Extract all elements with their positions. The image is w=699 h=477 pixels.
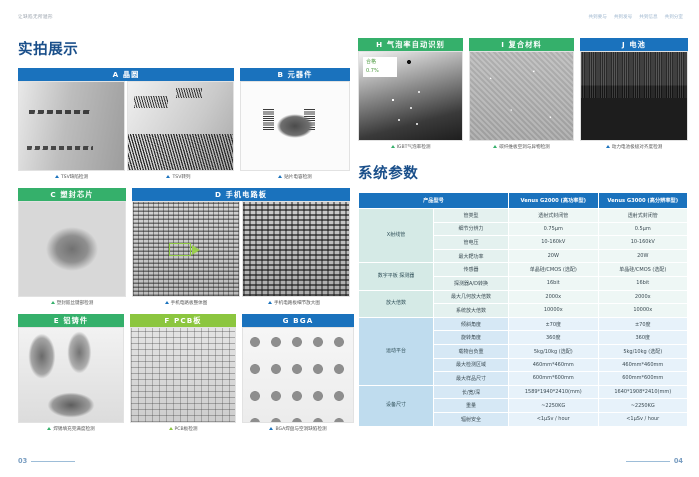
selection-box xyxy=(169,243,191,256)
sample-block-D: D 手机电路板手机电路板整体图手机电路板细节放大图 xyxy=(132,188,350,308)
triangle-bullet-icon xyxy=(165,301,169,304)
table-row: 数字平板 探测器传感器单晶硅/CMOS (选配)单晶硅/CMOS (选配) xyxy=(359,263,688,277)
sample-row: A 晶圆TSV缺陷检测TSV转列B 元器件贴片电容检测 xyxy=(18,68,350,182)
page-title-right: 系统参数 xyxy=(358,162,688,183)
page-rule-right xyxy=(626,461,670,462)
param-label-cell: 最大靶功率 xyxy=(434,249,509,263)
sample-captions-A: TSV缺陷检测TSV转列 xyxy=(18,171,234,182)
caption-B-0: 贴片电容检测 xyxy=(240,171,350,182)
param-label-cell: 载物台负重 xyxy=(434,344,509,358)
caption-text: TSV缺陷检测 xyxy=(61,174,88,180)
triangle-bullet-icon xyxy=(278,175,282,178)
param-value-g2000: ±70度 xyxy=(509,317,599,331)
top-nav-item-0[interactable]: 共到要与 xyxy=(588,14,606,20)
overlay-label: 合格 xyxy=(366,58,376,67)
caption-A-1: TSV转列 xyxy=(125,171,232,182)
sample-block-E: E 铝铸件焊锡填充完满度检测 xyxy=(18,314,124,434)
param-value-g2000: 360度 xyxy=(509,331,599,345)
page-number-left-value: 03 xyxy=(18,457,27,465)
xray-image-B-0 xyxy=(240,81,350,171)
sample-header-E: E 铝铸件 xyxy=(18,314,124,327)
sample-header-D: D 手机电路板 xyxy=(132,188,350,201)
caption-text: IGBT气泡率检测 xyxy=(397,144,431,150)
caption-text: 手机电路板整体图 xyxy=(171,300,208,306)
param-value-g2000: 1589*1940*2410(mm) xyxy=(509,385,599,399)
param-value-g3000: 1640*1908*2410(mm) xyxy=(598,385,688,399)
caption-H-0: IGBT气泡率检测 xyxy=(358,141,463,152)
xray-image-A-0 xyxy=(18,81,125,171)
param-value-g2000: 5kg/10kg (选配) xyxy=(509,344,599,358)
table-body: X射线管管类型透射式封闭管透射式封闭管细节分辨力0.75μm0.5μm管电压10… xyxy=(359,209,688,427)
triangle-bullet-icon xyxy=(268,301,272,304)
caption-D-1: 手机电路板细节放大图 xyxy=(240,297,348,308)
param-label-cell: 重量 xyxy=(434,399,509,413)
top-nav-item-1[interactable]: 共到发号 xyxy=(614,14,632,20)
xray-image-F-0 xyxy=(130,327,236,423)
right-column: H 气泡率自动识别合格0.7%IGBT气泡率检测I 复合材料碳纤维板空洞与异物检… xyxy=(358,38,688,427)
param-group-cell: 放大倍数 xyxy=(359,290,434,317)
param-value-g2000: 0.75μm xyxy=(509,222,599,236)
param-value-g2000: ~2250KG xyxy=(509,399,599,413)
param-value-g2000: 20W xyxy=(509,249,599,263)
param-value-g2000: 2000x xyxy=(509,290,599,304)
param-label-cell: 细节分辨力 xyxy=(434,222,509,236)
caption-text: 碳纤维板空洞与异物检测 xyxy=(499,144,550,150)
sample-images-A xyxy=(18,81,234,171)
xray-image-J-0 xyxy=(580,51,688,141)
sample-block-H: H 气泡率自动识别合格0.7%IGBT气泡率检测 xyxy=(358,38,463,152)
caption-A-0: TSV缺陷检测 xyxy=(18,171,125,182)
sample-captions-G: BGA焊盘与空洞缺陷检测 xyxy=(242,423,354,434)
xray-image-A-1 xyxy=(127,81,234,171)
caption-text: 动力电池极极对齐度检测 xyxy=(612,144,663,150)
table-row: 运动平台倾斜角度±70度±70度 xyxy=(359,317,688,331)
sample-header-G: G BGA xyxy=(242,314,354,327)
sample-images-F xyxy=(130,327,236,423)
sample-captions-H: IGBT气泡率检测 xyxy=(358,141,463,152)
sample-block-I: I 复合材料碳纤维板空洞与异物检测 xyxy=(469,38,574,152)
param-label-cell: 最大几何放大倍数 xyxy=(434,290,509,304)
top-bar: 让缺陷无所遁形 共到要与共到发号共到信息共到分室 xyxy=(0,0,699,32)
arrow-right-icon xyxy=(192,245,200,255)
triangle-bullet-icon xyxy=(169,427,173,430)
sample-header-C: C 塑封芯片 xyxy=(18,188,126,201)
detail-zoom-indicator xyxy=(169,243,200,256)
triangle-bullet-icon xyxy=(51,301,55,304)
param-value-g3000: ~2250KG xyxy=(598,399,688,413)
param-value-g2000: 600mm*600mm xyxy=(509,372,599,386)
param-label-cell: 最大检测区域 xyxy=(434,358,509,372)
param-value-g3000: 5kg/10kg (选配) xyxy=(598,344,688,358)
brochure-page: 让缺陷无所遁形 共到要与共到发号共到信息共到分室 实拍展示 A 晶圆TSV缺陷检… xyxy=(0,0,699,477)
param-group-cell: 运动平台 xyxy=(359,317,434,385)
caption-I-0: 碳纤维板空洞与异物检测 xyxy=(469,141,574,152)
sample-row: C 塑封芯片塑封嵌丝键部检测D 手机电路板手机电路板整体图手机电路板细节放大图 xyxy=(18,188,350,308)
param-group-cell: X射线管 xyxy=(359,209,434,263)
xray-image-D-0 xyxy=(132,201,240,297)
sample-images-H: 合格0.7% xyxy=(358,51,463,141)
system-parameters-table: 产品型号Venus G2000 (高功率型)Venus G3000 (高分辨率型… xyxy=(358,192,688,427)
param-value-g3000: 16bit xyxy=(598,276,688,290)
sample-block-A: A 晶圆TSV缺陷检测TSV转列 xyxy=(18,68,234,182)
sample-header-J: J 电池 xyxy=(580,38,688,51)
caption-J-0: 动力电池极极对齐度检测 xyxy=(580,141,688,152)
table-header-0: 产品型号 xyxy=(359,193,509,209)
param-label-cell: 长/宽/深 xyxy=(434,385,509,399)
triangle-bullet-icon xyxy=(166,175,170,178)
sample-block-J: J 电池动力电池极极对齐度检测 xyxy=(580,38,688,152)
xray-image-G-0 xyxy=(242,327,354,423)
sample-images-G xyxy=(242,327,354,423)
sample-gallery: A 晶圆TSV缺陷检测TSV转列B 元器件贴片电容检测C 塑封芯片塑封嵌丝键部检… xyxy=(18,68,350,434)
caption-D-0: 手机电路板整体图 xyxy=(132,297,240,308)
top-navigation: 共到要与共到发号共到信息共到分室 xyxy=(588,14,683,20)
param-value-g3000: 单晶硅/CMOS (选配) xyxy=(598,263,688,277)
param-group-cell: 数字平板 探测器 xyxy=(359,263,434,290)
top-nav-item-3[interactable]: 共到分室 xyxy=(665,14,683,20)
param-value-g3000: 360度 xyxy=(598,331,688,345)
param-label-cell: 管类型 xyxy=(434,209,509,223)
sample-captions-B: 贴片电容检测 xyxy=(240,171,350,182)
sample-captions-F: PCB板检测 xyxy=(130,423,236,434)
xray-image-H-0: 合格0.7% xyxy=(358,51,463,141)
caption-text: BGA焊盘与空洞缺陷检测 xyxy=(275,426,326,432)
bubble-rate-overlay: 合格0.7% xyxy=(363,57,397,77)
caption-C-0: 塑封嵌丝键部检测 xyxy=(18,297,126,308)
sample-captions-I: 碳纤维板空洞与异物检测 xyxy=(469,141,574,152)
param-label-cell: 传感器 xyxy=(434,263,509,277)
caption-text: TSV转列 xyxy=(172,174,190,180)
triangle-bullet-icon xyxy=(391,145,395,148)
sample-header-A: A 晶圆 xyxy=(18,68,234,81)
triangle-bullet-icon xyxy=(47,427,51,430)
param-group-cell: 设备尺寸 xyxy=(359,385,434,426)
sample-row: E 铝铸件焊锡填充完满度检测F PCB板PCB板检测G BGABGA焊盘与空洞缺… xyxy=(18,314,350,434)
sample-header-F: F PCB板 xyxy=(130,314,236,327)
param-value-g2000: 16bit xyxy=(509,276,599,290)
xray-image-E-0 xyxy=(18,327,124,423)
sample-block-G: G BGABGA焊盘与空洞缺陷检测 xyxy=(242,314,354,434)
caption-E-0: 焊锡填充完满度检测 xyxy=(18,423,124,434)
triangle-bullet-icon xyxy=(493,145,497,148)
triangle-bullet-icon xyxy=(55,175,59,178)
sample-block-B: B 元器件贴片电容检测 xyxy=(240,68,350,182)
caption-text: 焊锡填充完满度检测 xyxy=(53,426,94,432)
param-value-g2000: 460mm*460mm xyxy=(509,358,599,372)
sample-header-H: H 气泡率自动识别 xyxy=(358,38,463,51)
xray-image-C-0 xyxy=(18,201,126,297)
xray-image-I-0 xyxy=(469,51,574,141)
triangle-bullet-icon xyxy=(269,427,273,430)
xray-image-D-1 xyxy=(242,201,350,297)
param-label-cell: 倾斜角度 xyxy=(434,317,509,331)
table-header-2: Venus G3000 (高分辨率型) xyxy=(598,193,688,209)
param-label-cell: 旋转角度 xyxy=(434,331,509,345)
sample-row: H 气泡率自动识别合格0.7%IGBT气泡率检测I 复合材料碳纤维板空洞与异物检… xyxy=(358,38,688,152)
overlay-value: 0.7% xyxy=(366,67,379,76)
param-label-cell: 最大样品尺寸 xyxy=(434,372,509,386)
page-title-left: 实拍展示 xyxy=(18,38,350,59)
table-row: 放大倍数最大几何放大倍数2000x2000x xyxy=(359,290,688,304)
param-value-g3000: 10000x xyxy=(598,304,688,318)
param-value-g2000: 10000x xyxy=(509,304,599,318)
caption-F-0: PCB板检测 xyxy=(130,423,236,434)
param-value-g3000: 透射式封闭管 xyxy=(598,209,688,223)
sample-images-I xyxy=(469,51,574,141)
sample-header-B: B 元器件 xyxy=(240,68,350,81)
table-row: 设备尺寸长/宽/深1589*1940*2410(mm)1640*1908*241… xyxy=(359,385,688,399)
param-value-g3000: ±70度 xyxy=(598,317,688,331)
sample-captions-E: 焊锡填充完满度检测 xyxy=(18,423,124,434)
param-label-cell: 探测器A/D转换 xyxy=(434,276,509,290)
sample-captions-D: 手机电路板整体图手机电路板细节放大图 xyxy=(132,297,350,308)
top-nav-item-2[interactable]: 共到信息 xyxy=(639,14,657,20)
param-value-g3000: 2000x xyxy=(598,290,688,304)
sample-block-F: F PCB板PCB板检测 xyxy=(130,314,236,434)
sample-images-C xyxy=(18,201,126,297)
sample-block-C: C 塑封芯片塑封嵌丝键部检测 xyxy=(18,188,126,308)
page-number-left: 03 xyxy=(18,457,75,465)
table-row: X射线管管类型透射式封闭管透射式封闭管 xyxy=(359,209,688,223)
param-value-g3000: 20W xyxy=(598,249,688,263)
param-value-g3000: 10-160kV xyxy=(598,236,688,250)
sample-header-I: I 复合材料 xyxy=(469,38,574,51)
table-header-1: Venus G2000 (高功率型) xyxy=(509,193,599,209)
param-value-g3000: <1μSv / hour xyxy=(598,412,688,426)
param-value-g2000: 透射式封闭管 xyxy=(509,209,599,223)
param-value-g3000: 0.5μm xyxy=(598,222,688,236)
caption-text: PCB板检测 xyxy=(175,426,198,432)
triangle-bullet-icon xyxy=(606,145,610,148)
sample-images-D xyxy=(132,201,350,297)
caption-text: 塑封嵌丝键部检测 xyxy=(57,300,94,306)
sample-captions-C: 塑封嵌丝键部检测 xyxy=(18,297,126,308)
sample-gallery-right: H 气泡率自动识别合格0.7%IGBT气泡率检测I 复合材料碳纤维板空洞与异物检… xyxy=(358,38,688,152)
param-value-g2000: 10-160kV xyxy=(509,236,599,250)
caption-text: 贴片电容检测 xyxy=(284,174,312,180)
param-value-g3000: 600mm*600mm xyxy=(598,372,688,386)
param-value-g3000: 460mm*460mm xyxy=(598,358,688,372)
caption-text: 手机电路板细节放大图 xyxy=(274,300,320,306)
param-label-cell: 辐射安全 xyxy=(434,412,509,426)
left-column: 实拍展示 A 晶圆TSV缺陷检测TSV转列B 元器件贴片电容检测C 塑封芯片塑封… xyxy=(18,38,350,440)
page-number-right: 04 xyxy=(626,457,683,465)
sample-captions-J: 动力电池极极对齐度检测 xyxy=(580,141,688,152)
param-value-g2000: <1μSv / hour xyxy=(509,412,599,426)
param-label-cell: 管电压 xyxy=(434,236,509,250)
brand-tagline: 让缺陷无所遁形 xyxy=(18,14,53,20)
sample-images-E xyxy=(18,327,124,423)
page-rule-left xyxy=(31,461,75,462)
param-label-cell: 系统放大倍数 xyxy=(434,304,509,318)
param-value-g2000: 单晶硅/CMOS (选配) xyxy=(509,263,599,277)
table-header-row: 产品型号Venus G2000 (高功率型)Venus G3000 (高分辨率型… xyxy=(359,193,688,209)
caption-G-0: BGA焊盘与空洞缺陷检测 xyxy=(242,423,354,434)
page-number-right-value: 04 xyxy=(674,457,683,465)
sample-images-B xyxy=(240,81,350,171)
sample-images-J xyxy=(580,51,688,141)
